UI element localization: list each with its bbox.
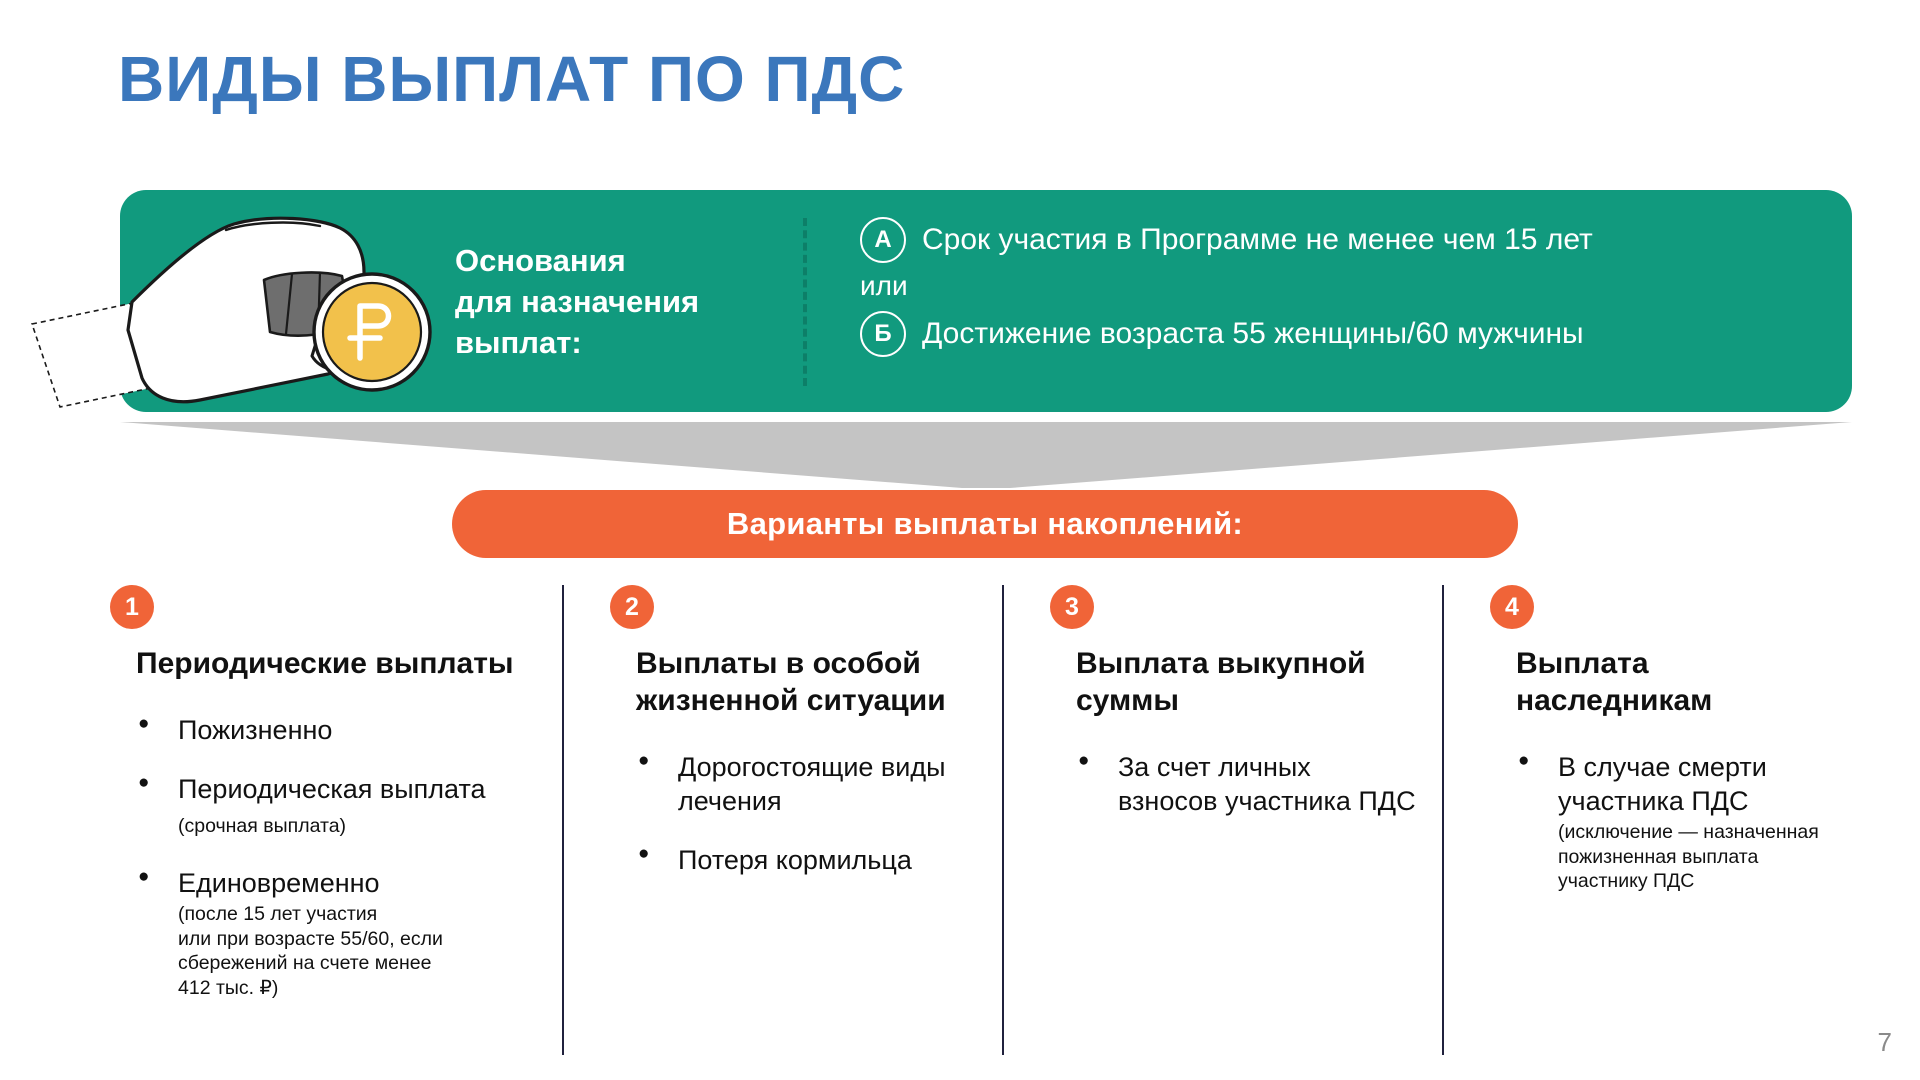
list-item: Потеря кормильца [636, 843, 976, 877]
condition-text-a: Срок участия в Программе не менее чем 15… [922, 223, 1593, 258]
hand-holding-coin-illustration [20, 202, 440, 417]
list-item: За счет личных взносов участника ПДС [1076, 750, 1416, 819]
column-heading-3: Выплата выкупной суммы [1076, 646, 1416, 720]
bullet-note-block: (исключение — назначенная пожизненная вы… [1558, 820, 1844, 894]
grounds-label-line-1: Основания [455, 240, 745, 281]
column-number-badge-1: 1 [110, 585, 154, 629]
payout-options-label: Варианты выплаты накоплений: [727, 506, 1243, 542]
bullet-text: В случае смерти участника ПДС [1558, 752, 1767, 816]
funnel-arrow-icon [120, 422, 1852, 488]
payout-options-banner: Варианты выплаты накоплений: [452, 490, 1518, 558]
payout-options-columns: 1 Периодические выплаты Пожизненно Перио… [110, 585, 1870, 1055]
condition-badge-b: Б [860, 311, 906, 357]
list-item: В случае смерти участника ПДС (исключени… [1516, 750, 1844, 894]
column-heading-4: Выплата наследникам [1516, 646, 1844, 720]
page-number: 7 [1878, 1027, 1892, 1058]
payout-option-column-4: 4 Выплата наследникам В случае смерти уч… [1442, 585, 1870, 1055]
grounds-label: Основания для назначения выплат: [455, 240, 745, 364]
grounds-banner: Основания для назначения выплат: А Срок … [120, 190, 1852, 412]
condition-row-a: А Срок участия в Программе не менее чем … [860, 212, 1826, 268]
bullet-note-block: (после 15 лет участия или при возрасте 5… [178, 902, 536, 1000]
bullet-text: Дорогостоящие виды лечения [678, 752, 946, 816]
banner-dashed-divider [803, 218, 807, 386]
column-bullets-2: Дорогостоящие виды лечения Потеря кормил… [636, 750, 976, 878]
column-bullets-4: В случае смерти участника ПДС (исключени… [1516, 750, 1844, 894]
page-title: ВИДЫ ВЫПЛАТ ПО ПДС [118, 42, 905, 116]
condition-text-b: Достижение возраста 55 женщины/60 мужчин… [922, 317, 1584, 352]
bullet-text: Единовременно [178, 868, 380, 898]
column-number-badge-2: 2 [610, 585, 654, 629]
condition-separator-or: или [860, 268, 1826, 306]
list-item: Дорогостоящие виды лечения [636, 750, 976, 819]
payout-option-column-2: 2 Выплаты в особой жизненной ситуации До… [562, 585, 1002, 1055]
column-number-badge-3: 3 [1050, 585, 1094, 629]
payout-option-column-1: 1 Периодические выплаты Пожизненно Перио… [110, 585, 562, 1055]
grounds-label-line-3: выплат: [455, 322, 745, 363]
bullet-text: Периодическая выплата [178, 774, 486, 804]
list-item: Пожизненно [136, 713, 536, 747]
column-heading-1: Периодические выплаты [136, 646, 536, 683]
bullet-text: Пожизненно [178, 715, 332, 745]
bullet-text: Потеря кормильца [678, 845, 912, 875]
bullet-text: За счет личных взносов участника ПДС [1118, 752, 1416, 816]
payout-option-column-3: 3 Выплата выкупной суммы За счет личных … [1002, 585, 1442, 1055]
column-bullets-1: Пожизненно Периодическая выплата (срочна… [136, 713, 536, 1000]
condition-badge-a: А [860, 217, 906, 263]
bullet-note-inline: (срочная выплата) [178, 815, 346, 837]
column-number-badge-4: 4 [1490, 585, 1534, 629]
column-heading-2: Выплаты в особой жизненной ситуации [636, 646, 976, 720]
grounds-conditions-list: А Срок участия в Программе не менее чем … [860, 212, 1826, 362]
grounds-label-line-2: для назначения [455, 281, 745, 322]
list-item: Периодическая выплата (срочная выплата) [136, 772, 536, 841]
list-item: Единовременно (после 15 лет участия или … [136, 866, 536, 1001]
column-bullets-3: За счет личных взносов участника ПДС [1076, 750, 1416, 819]
condition-row-b: Б Достижение возраста 55 женщины/60 мужч… [860, 306, 1826, 362]
